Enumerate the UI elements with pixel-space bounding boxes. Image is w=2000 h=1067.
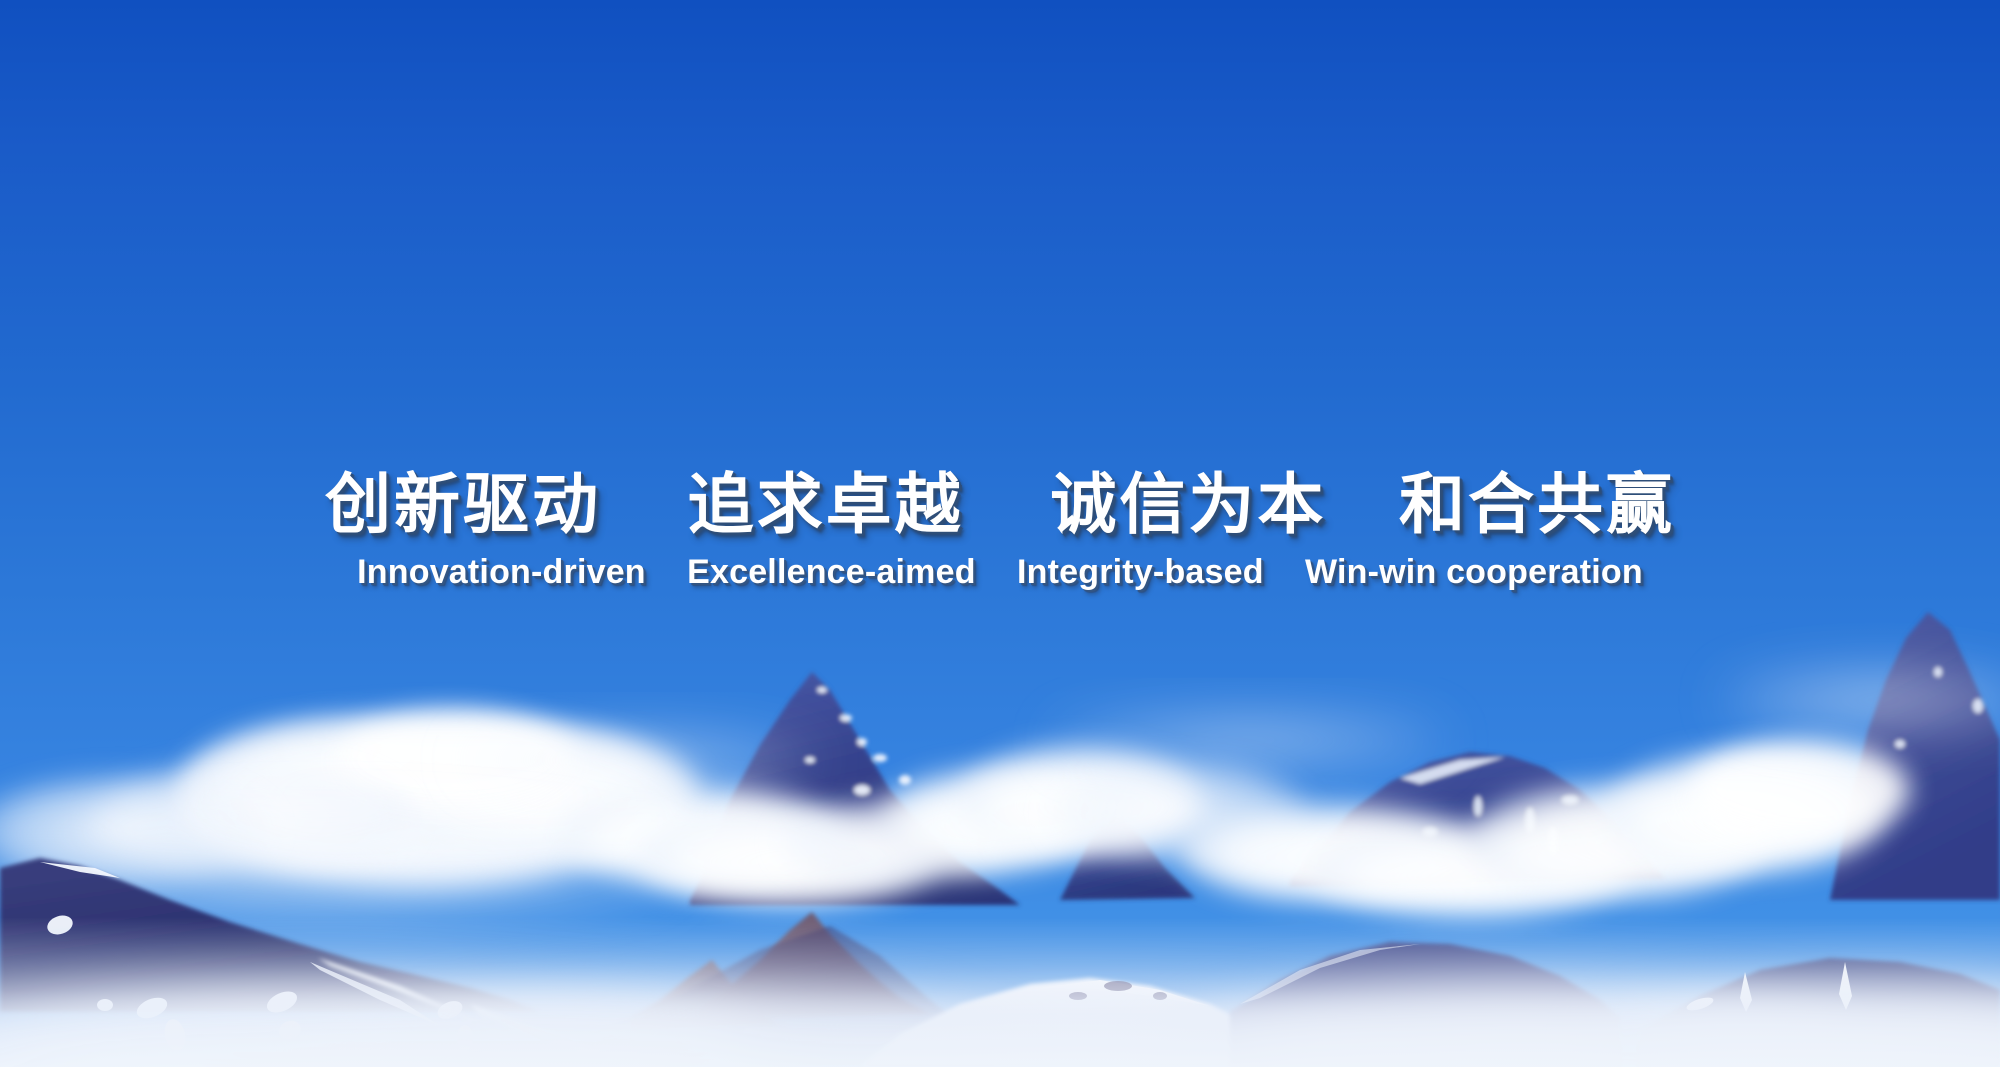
cloud-layer-mid xyxy=(0,670,2000,925)
low-mist-layer xyxy=(0,980,2000,1067)
hero-banner: 创新驱动 追求卓越 诚信为本 和合共赢 Innovation-driven Ex… xyxy=(0,0,2000,1067)
mountain-cloud-scenery xyxy=(0,0,2000,1067)
